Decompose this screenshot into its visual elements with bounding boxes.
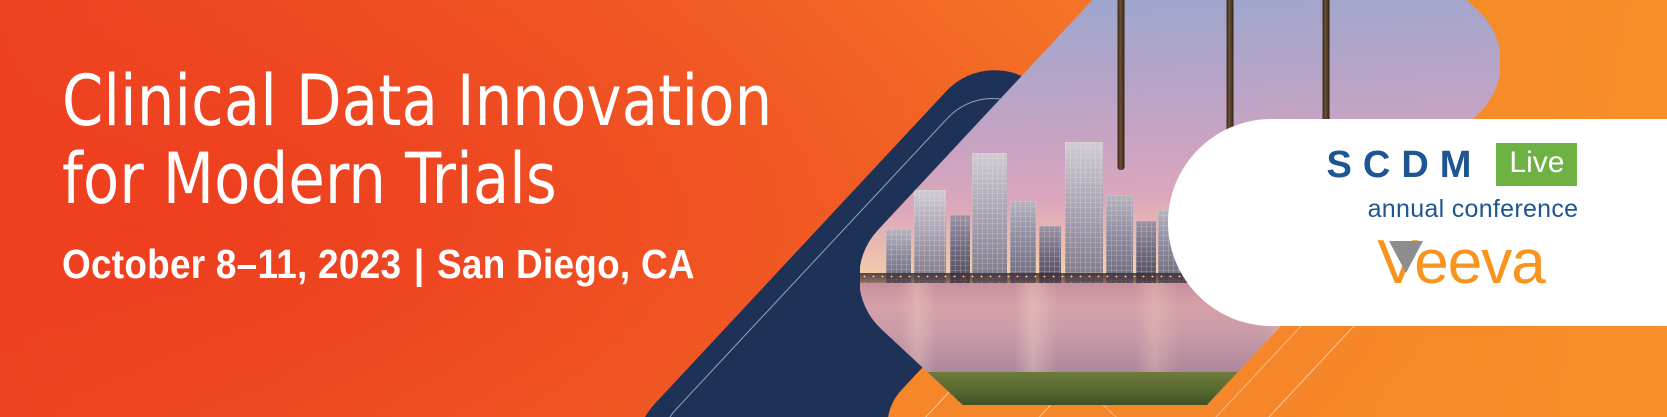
dateline-separator: |	[401, 241, 437, 287]
headline-line-2: for Modern Trials	[62, 140, 772, 218]
logo-card: SCDM Live annual conference Veeva	[1168, 119, 1667, 326]
event-banner: Clinical Data Innovation for Modern Tria…	[0, 0, 1667, 417]
veeva-triangle-icon	[1389, 241, 1423, 273]
page-title: Clinical Data Innovation for Modern Tria…	[62, 62, 772, 219]
headline-line-1: Clinical Data Innovation	[62, 62, 772, 140]
live-badge: Live	[1496, 143, 1577, 186]
palm-tree-1	[1116, 0, 1126, 170]
scdm-wordmark: SCDM	[1323, 146, 1483, 184]
event-dateline: October 8–11, 2023|San Diego, CA	[62, 241, 742, 288]
scdm-live-logo: SCDM Live	[1323, 143, 1578, 186]
banner-text-block: Clinical Data Innovation for Modern Tria…	[62, 62, 818, 288]
conference-tagline: annual conference	[1368, 195, 1579, 224]
event-dates: October 8–11, 2023	[62, 241, 401, 287]
veeva-logo: Veeva	[1377, 232, 1544, 294]
event-location: San Diego, CA	[437, 241, 695, 287]
